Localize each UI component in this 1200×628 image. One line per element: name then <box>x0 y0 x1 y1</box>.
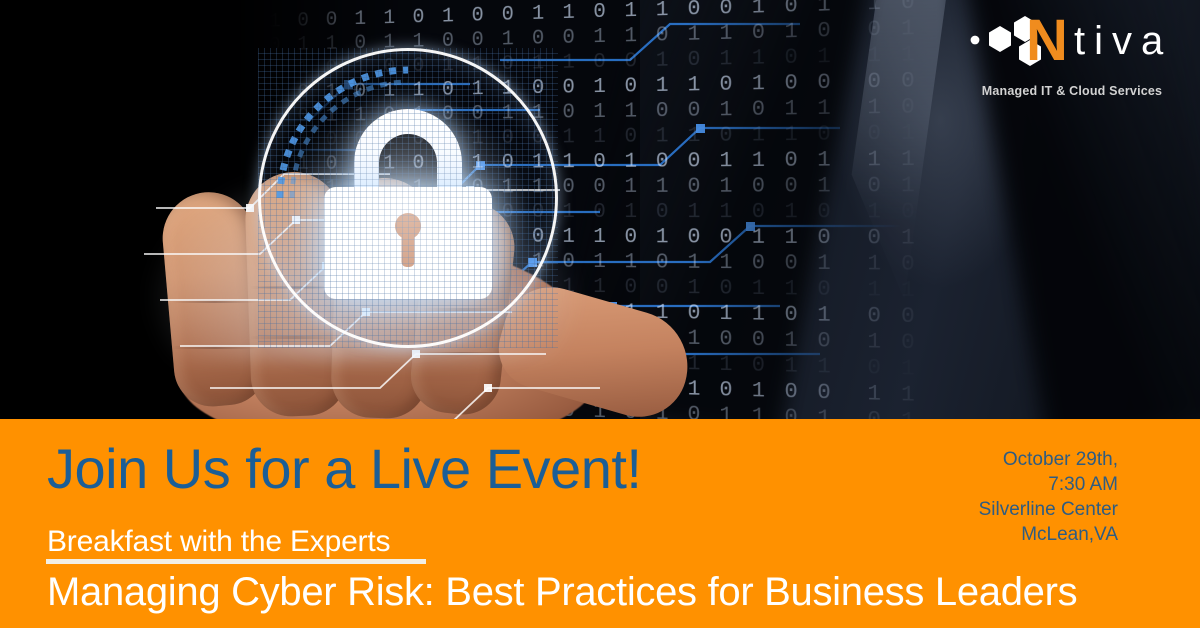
event-details: October 29th, 7:30 AM Silverline Center … <box>979 447 1118 547</box>
scanner-ring <box>258 48 558 348</box>
ntiva-logo[interactable]: N tiva Managed IT & Cloud Services <box>966 8 1178 100</box>
event-location: McLean,VA <box>979 522 1118 547</box>
kicker-underline <box>46 559 426 564</box>
logo-letters-tiva: tiva <box>1074 19 1172 63</box>
event-banner: 1 0 0 1 1 0 1 0 0 1 1 0 1 1 0 0 1 0 1 1 … <box>0 0 1200 628</box>
event-venue: Silverline Center <box>979 497 1118 522</box>
event-title: Managing Cyber Risk: Best Practices for … <box>47 570 1077 615</box>
hero-photo: 1 0 0 1 1 0 1 0 0 1 1 0 1 1 0 0 1 0 1 1 … <box>0 0 1200 419</box>
logo-mark-icon: N tiva <box>966 10 1178 72</box>
event-time: 7:30 AM <box>979 472 1118 497</box>
headline: Join Us for a Live Event! <box>47 436 641 501</box>
event-info-band: Join Us for a Live Event! Breakfast with… <box>0 419 1200 628</box>
series-kicker: Breakfast with the Experts <box>47 525 390 559</box>
logo-tagline: Managed IT & Cloud Services <box>966 84 1178 98</box>
logo-letter-n: N <box>1026 10 1068 72</box>
event-date: October 29th, <box>979 447 1118 472</box>
padlock-icon <box>258 48 558 348</box>
